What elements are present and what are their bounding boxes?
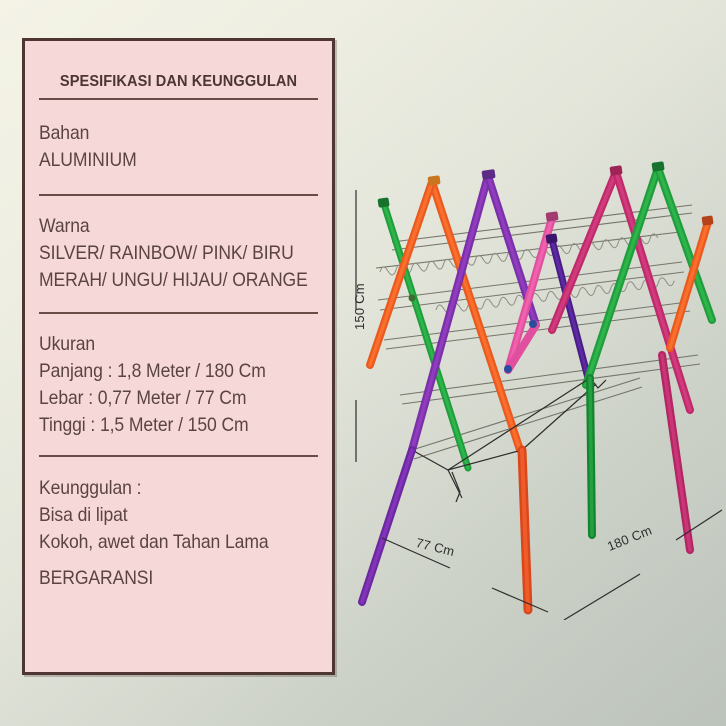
section-warna: Warna SILVER/ RAINBOW/ PINK/ BIRU MERAH/… xyxy=(39,196,318,312)
bar-pink-left-v xyxy=(508,218,552,370)
section-value-keunggulan-2: BERGARANSI xyxy=(39,565,290,592)
section-value-ukuran-lebar: Lebar : 0,77 Meter / 77 Cm xyxy=(39,385,290,412)
section-value-keunggulan-0: Bisa di lipat xyxy=(39,502,290,529)
product-illustration: .bar { stroke-linecap:round; } .wire { f… xyxy=(340,150,726,620)
section-value-bahan-0: ALUMINIUM xyxy=(39,147,290,174)
leg-purple-front xyxy=(362,450,412,602)
page-title: SPESIFIKASI DAN KEUNGGULAN xyxy=(47,41,309,98)
section-value-warna-0: SILVER/ RAINBOW/ PINK/ BIRU xyxy=(39,240,290,267)
leg-green-front xyxy=(590,378,592,535)
card-inner: SPESIFIKASI DAN KEUNGGULAN Bahan ALUMINI… xyxy=(25,41,332,672)
dimension-label-height: 150 Cm xyxy=(352,283,367,330)
section-value-ukuran-tinggi: Tinggi : 1,5 Meter / 150 Cm xyxy=(39,412,290,439)
specification-card: SPESIFIKASI DAN KEUNGGULAN Bahan ALUMINI… xyxy=(22,38,335,675)
section-value-warna-1: MERAH/ UNGU/ HIJAU/ ORANGE xyxy=(39,267,290,294)
section-bahan: Bahan ALUMINIUM xyxy=(39,100,318,194)
section-heading-ukuran: Ukuran xyxy=(39,331,290,358)
lower-tie-wires xyxy=(412,378,606,502)
section-heading-warna: Warna xyxy=(39,213,290,240)
poster-canvas: SPESIFIKASI DAN KEUNGGULAN Bahan ALUMINI… xyxy=(0,0,726,726)
leg-orange-front xyxy=(522,450,528,610)
section-ukuran: Ukuran Panjang : 1,8 Meter / 180 Cm Leba… xyxy=(39,314,318,455)
section-heading-keunggulan: Keunggulan : xyxy=(39,475,290,502)
section-value-ukuran-panjang: Panjang : 1,8 Meter / 180 Cm xyxy=(39,358,290,385)
section-keunggulan: Keunggulan : Bisa di lipat Kokoh, awet d… xyxy=(39,457,318,608)
section-heading-bahan: Bahan xyxy=(39,120,290,147)
section-value-keunggulan-1: Kokoh, awet dan Tahan Lama xyxy=(39,529,290,556)
